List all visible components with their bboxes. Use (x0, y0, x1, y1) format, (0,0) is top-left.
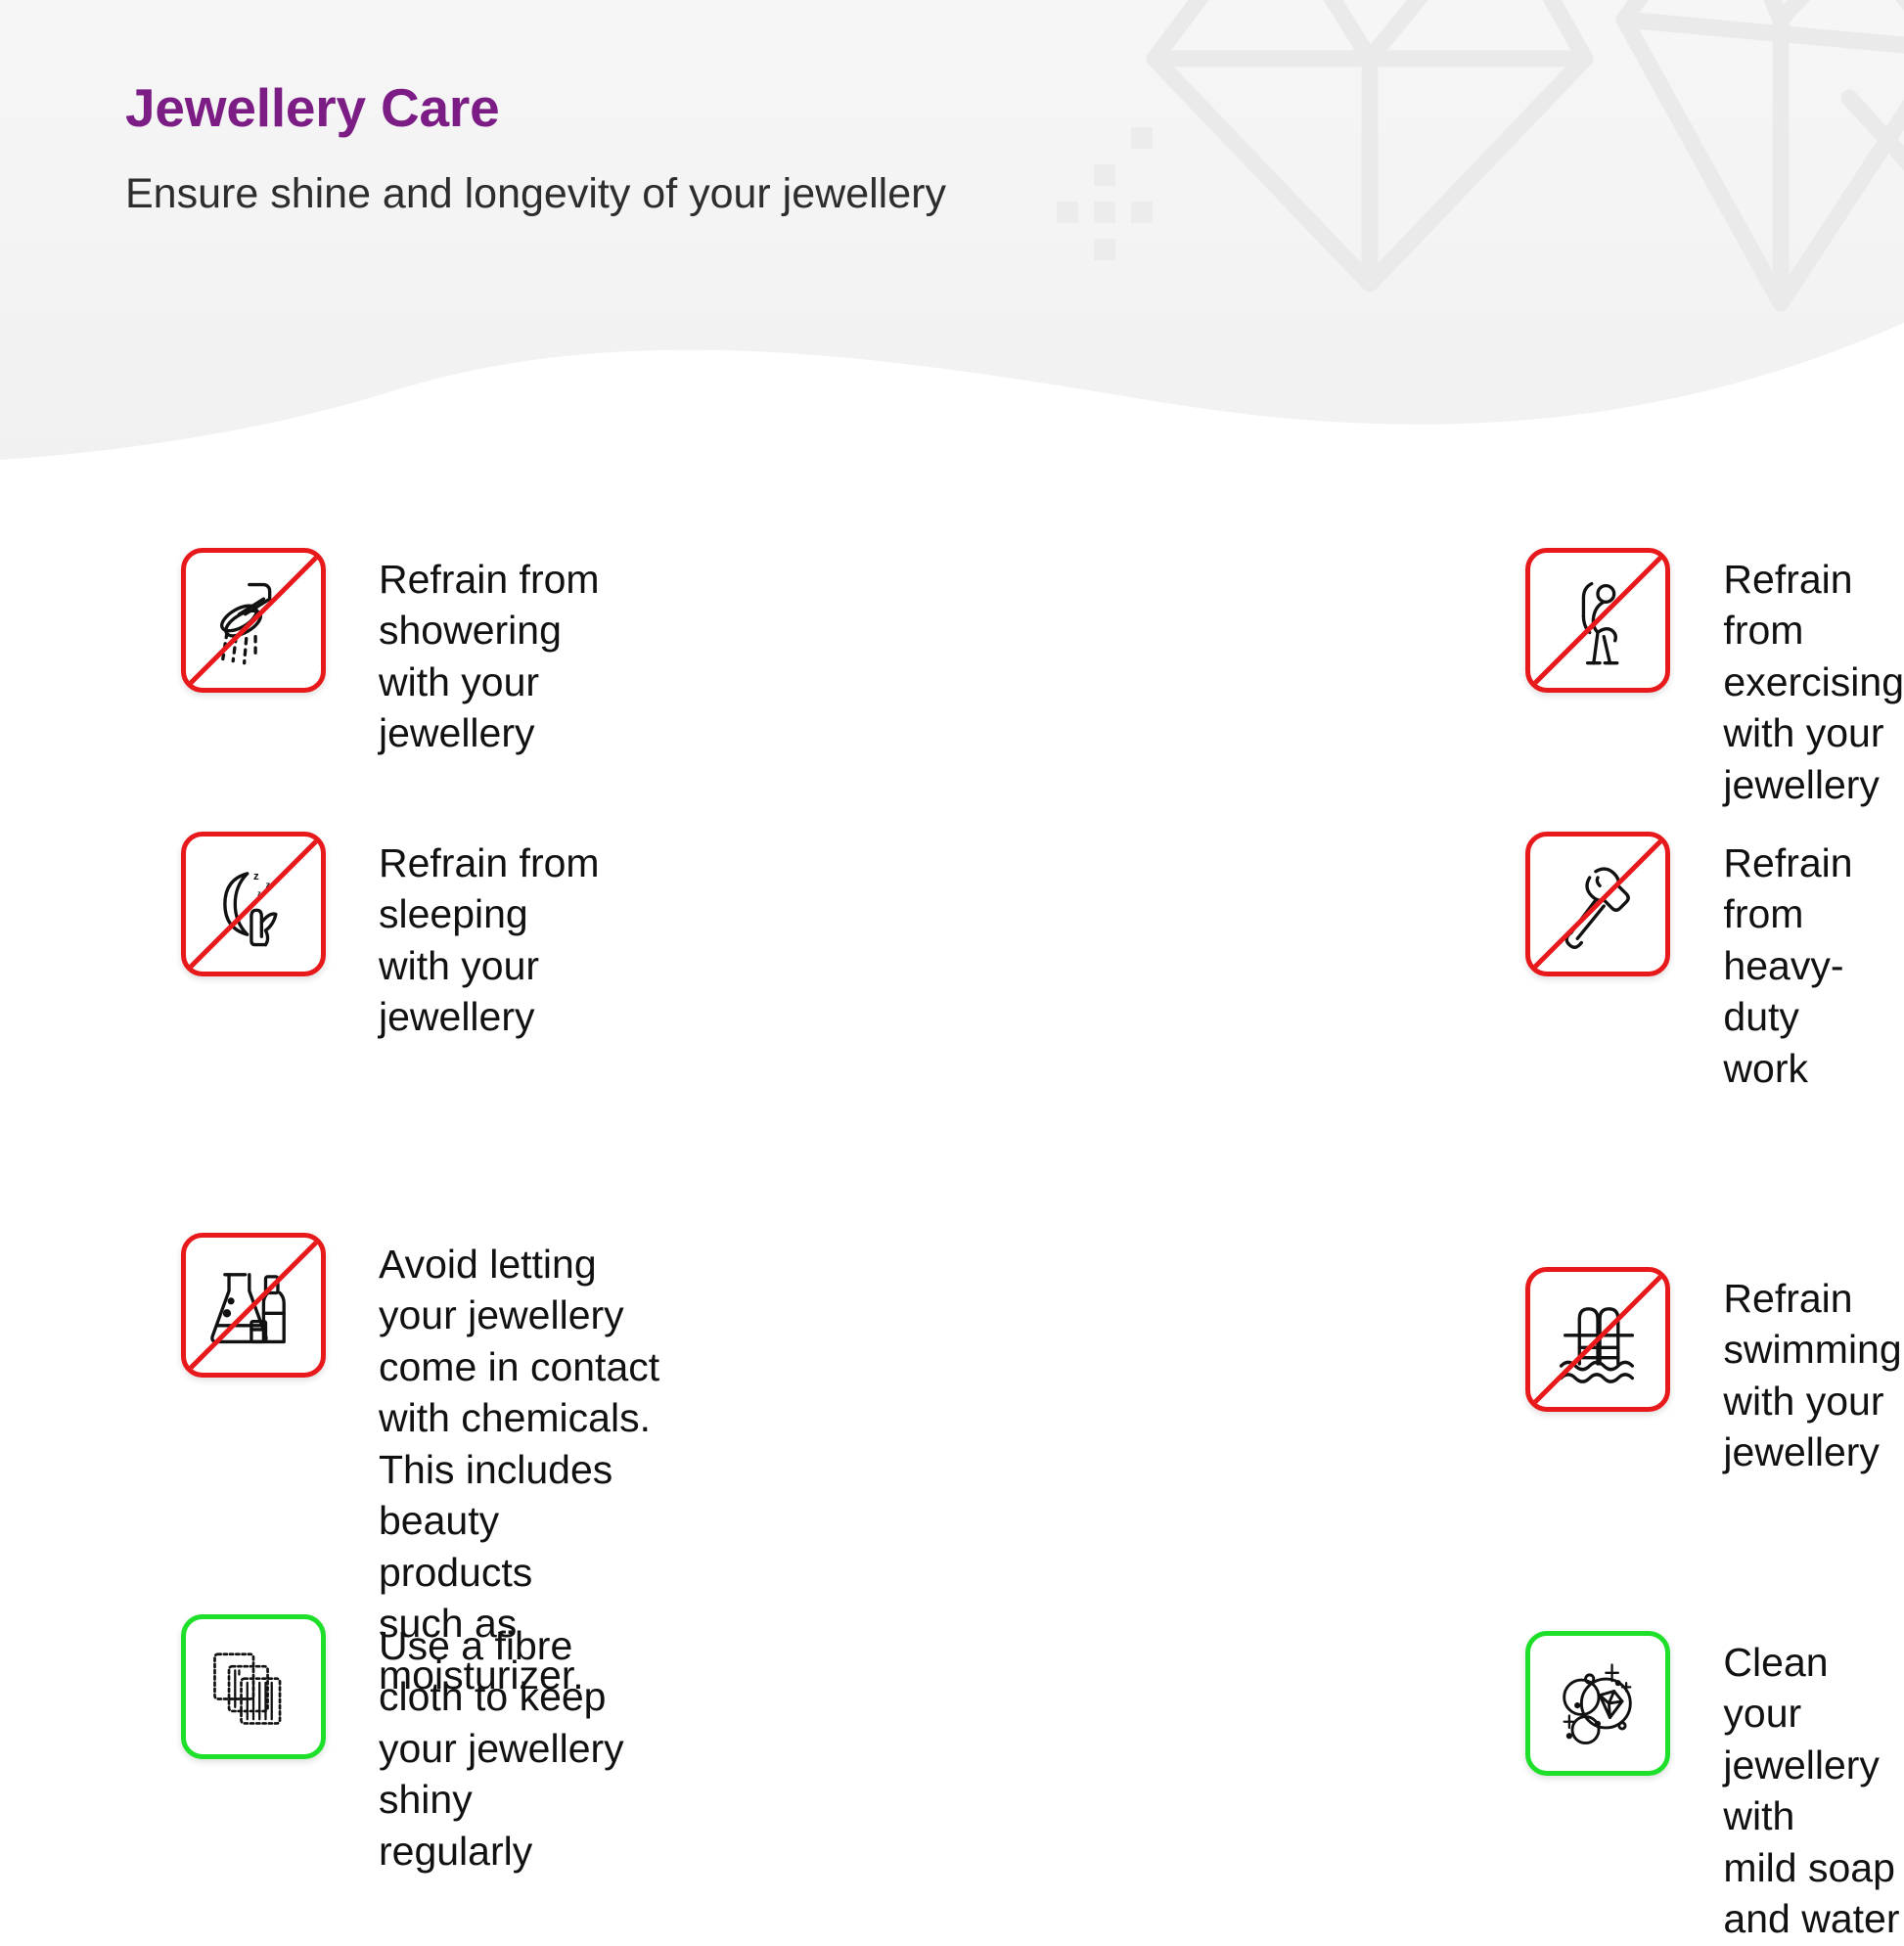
fibre-cloth-stack-icon (181, 1614, 326, 1759)
care-item-label: Refrain from heavy-duty work (1670, 832, 1904, 1094)
care-item-sleeping: z z z Refrain from sleeping with your je… (0, 792, 659, 1179)
care-item-exercising: Refrain from exercising with your jewell… (659, 460, 1904, 792)
person-exercising-icon (1525, 548, 1670, 693)
care-item-label: Refrain from sleeping with your jeweller… (326, 832, 659, 1043)
care-item-mild-soap: Clean your jewellery with mild soap and … (659, 1531, 1904, 1844)
soap-bubbles-diamond-icon (1525, 1631, 1670, 1776)
svg-text:z: z (265, 880, 270, 889)
care-item-label: Refrain swimming with your jewellery (1670, 1267, 1904, 1478)
swimming-pool-ladder-icon (1525, 1267, 1670, 1412)
care-instructions-grid: Refrain from showering with your jewelle… (0, 460, 1904, 1844)
care-item-chemicals: Avoid letting your jewellery come in con… (0, 1179, 659, 1531)
chemical-flask-bottle-icon (181, 1233, 326, 1378)
care-item-label: Use a fibre cloth to keep your jewellery… (326, 1614, 659, 1877)
care-item-label: Refrain from showering with your jewelle… (326, 548, 659, 759)
shower-head-icon (181, 548, 326, 693)
care-item-swimming: Refrain swimming with your jewellery (659, 1179, 1904, 1531)
svg-text:z: z (257, 889, 261, 898)
hammer-icon (1525, 832, 1670, 976)
care-item-label: Refrain from exercising with your jewell… (1670, 548, 1904, 810)
header-text-block: Jewellery Care Ensure shine and longevit… (125, 80, 1104, 218)
page-title: Jewellery Care (125, 80, 1104, 137)
moon-sleeping-cat-icon: z z z (181, 832, 326, 976)
header-banner: Jewellery Care Ensure shine and longevit… (0, 0, 1904, 460)
care-item-label: Clean your jewellery with mild soap and … (1670, 1631, 1904, 1945)
diamond-watermark-icon (1037, 0, 1904, 372)
care-item-heavy-duty-work: Refrain from heavy-duty work (659, 792, 1904, 1179)
svg-text:z: z (253, 871, 259, 882)
care-item-showering: Refrain from showering with your jewelle… (0, 460, 659, 792)
care-item-fibre-cloth: Use a fibre cloth to keep your jewellery… (0, 1531, 659, 1844)
page-subtitle: Ensure shine and longevity of your jewel… (125, 170, 1104, 218)
